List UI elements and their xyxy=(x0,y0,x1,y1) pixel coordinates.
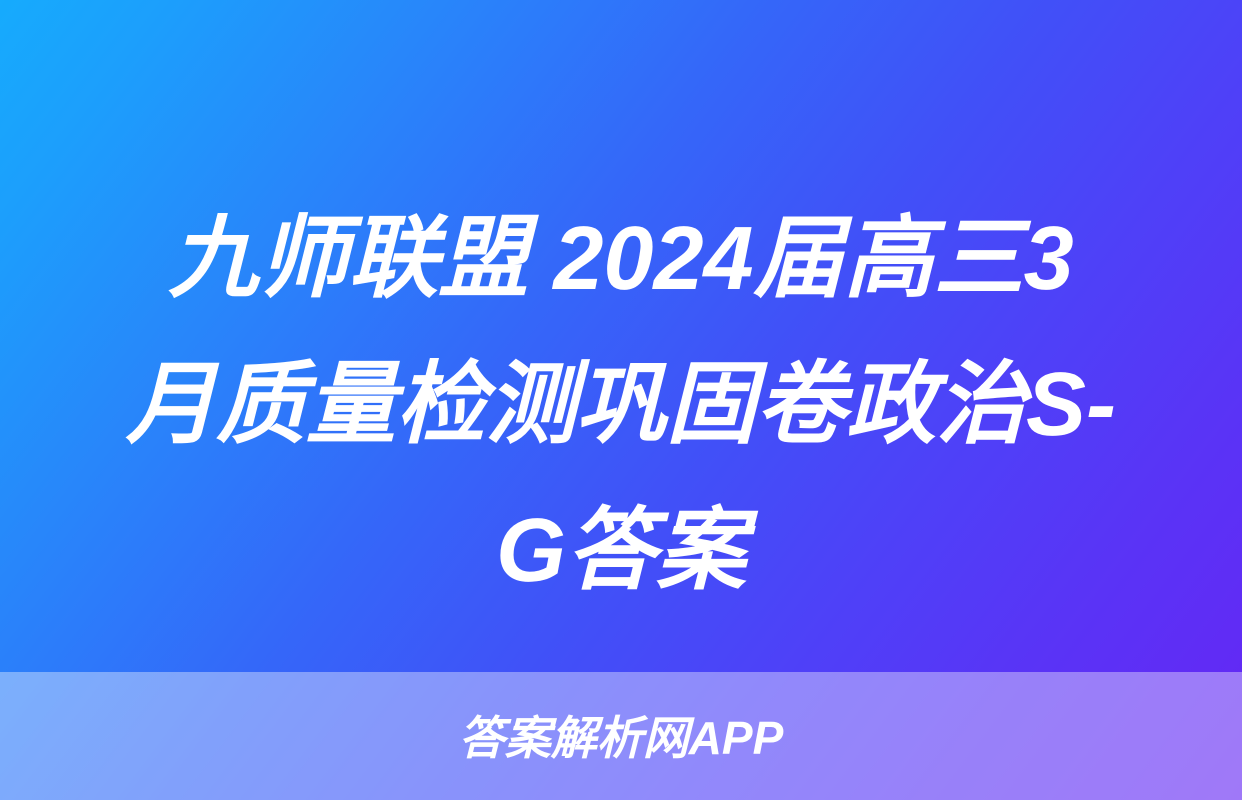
title-line-3: G答案 xyxy=(52,478,1190,624)
poster-canvas: 九师联盟 2024届高三3 月质量检测巩固卷政治S- G答案 答案解析网APP xyxy=(0,0,1242,800)
title-line-1: 九师联盟 2024届高三3 xyxy=(52,186,1190,332)
title-line-2: 月质量检测巩固卷政治S- xyxy=(52,332,1190,478)
watermark-band: 答案解析网APP xyxy=(0,672,1242,800)
page-title: 九师联盟 2024届高三3 月质量检测巩固卷政治S- G答案 xyxy=(0,186,1242,624)
watermark-label: 答案解析网APP xyxy=(459,715,784,761)
